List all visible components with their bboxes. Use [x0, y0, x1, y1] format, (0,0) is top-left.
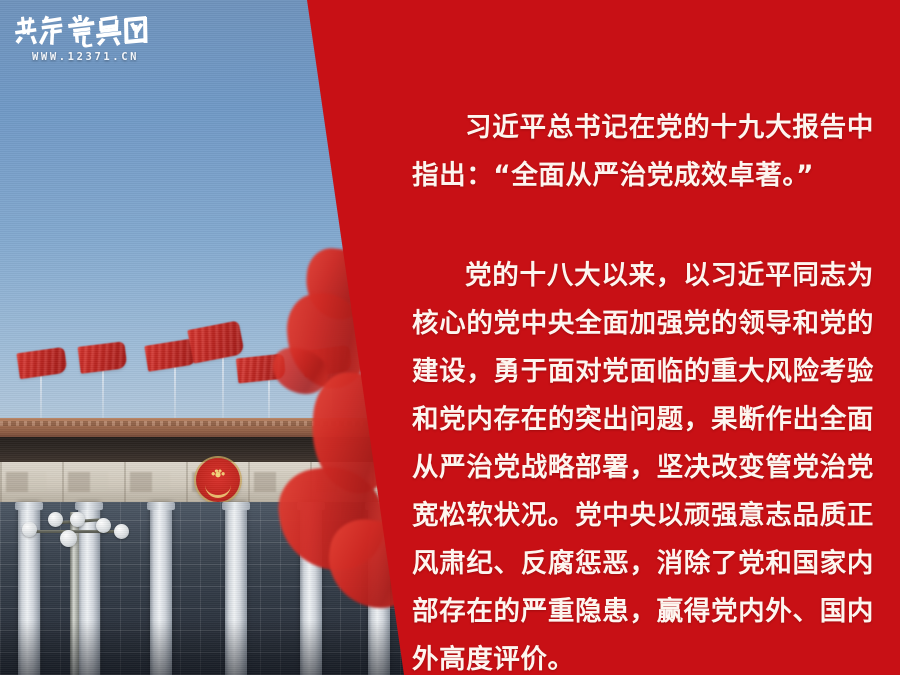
ground-shadow [0, 620, 430, 675]
wordmark-gongchandangyuanwang-icon [14, 14, 148, 48]
logo-url-text: WWW.12371.CN [32, 51, 164, 63]
paragraph-body: 党的十八大以来，以习近平同志为核心的党中央全面加强党的领导和党的建设，勇于面对党… [412, 252, 874, 675]
national-emblem-icon [196, 458, 240, 502]
site-logo[interactable]: WWW.12371.CN [14, 14, 164, 63]
paragraph-quote: 习近平总书记在党的十九大报告中指出：“全面从严治党成效卓著。” [412, 104, 874, 200]
article-copy: 习近平总书记在党的十九大报告中指出：“全面从严治党成效卓著。” 党的十八大以来，… [412, 104, 874, 675]
poster-canvas: 习近平总书记在党的十九大报告中指出：“全面从严治党成效卓著。” 党的十八大以来，… [0, 0, 900, 675]
roof-eave [0, 418, 430, 438]
